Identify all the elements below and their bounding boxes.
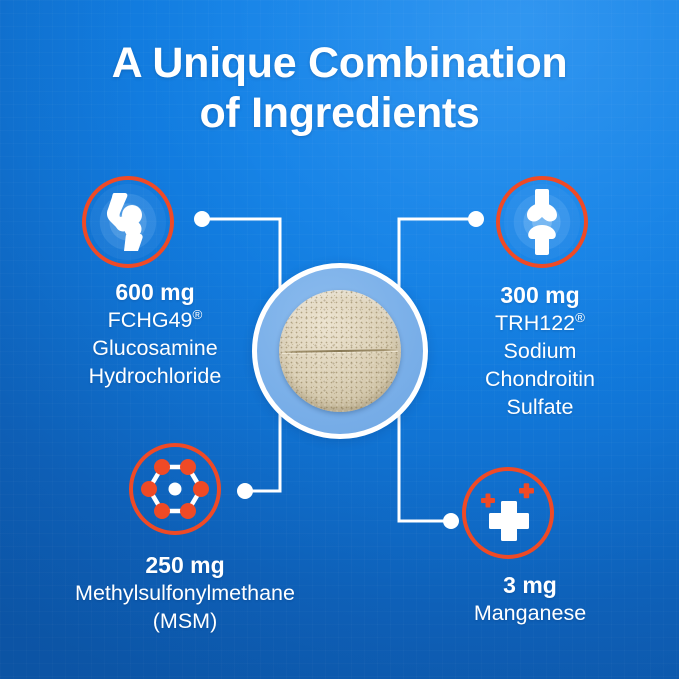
straight-knee-joint-icon xyxy=(522,189,562,255)
ingredient-amount: 300 mg xyxy=(420,281,660,309)
ingredient-amount: 250 mg xyxy=(10,551,360,579)
badge-chondroitin xyxy=(496,176,588,268)
ingredient-brand: TRH122® xyxy=(420,309,660,337)
connector-dot-chondroitin xyxy=(468,211,484,227)
medical-cross-icon xyxy=(475,482,541,544)
ingredient-name-line-1: Glucosamine xyxy=(30,334,280,362)
badge-msm xyxy=(129,443,221,535)
bent-knee-joint-icon xyxy=(100,191,156,253)
molecule-icon xyxy=(140,454,210,524)
ingredient-name-line-2: Hydrochloride xyxy=(30,362,280,390)
connector-dot-msm xyxy=(237,483,253,499)
registered-mark: ® xyxy=(193,307,203,322)
registered-mark: ® xyxy=(575,310,585,325)
ingredient-amount: 600 mg xyxy=(30,278,280,306)
ingredients-infographic: A Unique Combination of Ingredients xyxy=(0,0,679,679)
ingredient-name-line-2: (MSM) xyxy=(10,607,360,635)
ingredient-text-msm: 250 mg Methylsulfonylmethane (MSM) xyxy=(10,551,360,635)
ingredient-name-line-3: Sulfate xyxy=(420,393,660,421)
ingredient-brand: FCHG49® xyxy=(30,306,280,334)
ingredient-name-line-1: Manganese xyxy=(410,599,650,627)
ingredient-text-glucosamine: 600 mg FCHG49® Glucosamine Hydrochloride xyxy=(30,278,280,390)
ingredient-name-line-1: Sodium xyxy=(420,337,660,365)
tablet-image xyxy=(279,290,401,412)
badge-glucosamine xyxy=(82,176,174,268)
connector-dot-glucosamine xyxy=(194,211,210,227)
ingredient-text-manganese: 3 mg Manganese xyxy=(410,571,650,627)
ingredient-amount: 3 mg xyxy=(410,571,650,599)
ingredient-name-line-2: Chondroitin xyxy=(420,365,660,393)
badge-manganese xyxy=(462,467,554,559)
ingredient-name-line-1: Methylsulfonylmethane xyxy=(10,579,360,607)
ingredient-text-chondroitin: 300 mg TRH122® Sodium Chondroitin Sulfat… xyxy=(420,281,660,421)
connector-dot-manganese xyxy=(443,513,459,529)
connector-msm xyxy=(246,413,280,491)
connector-manganese xyxy=(399,413,450,521)
